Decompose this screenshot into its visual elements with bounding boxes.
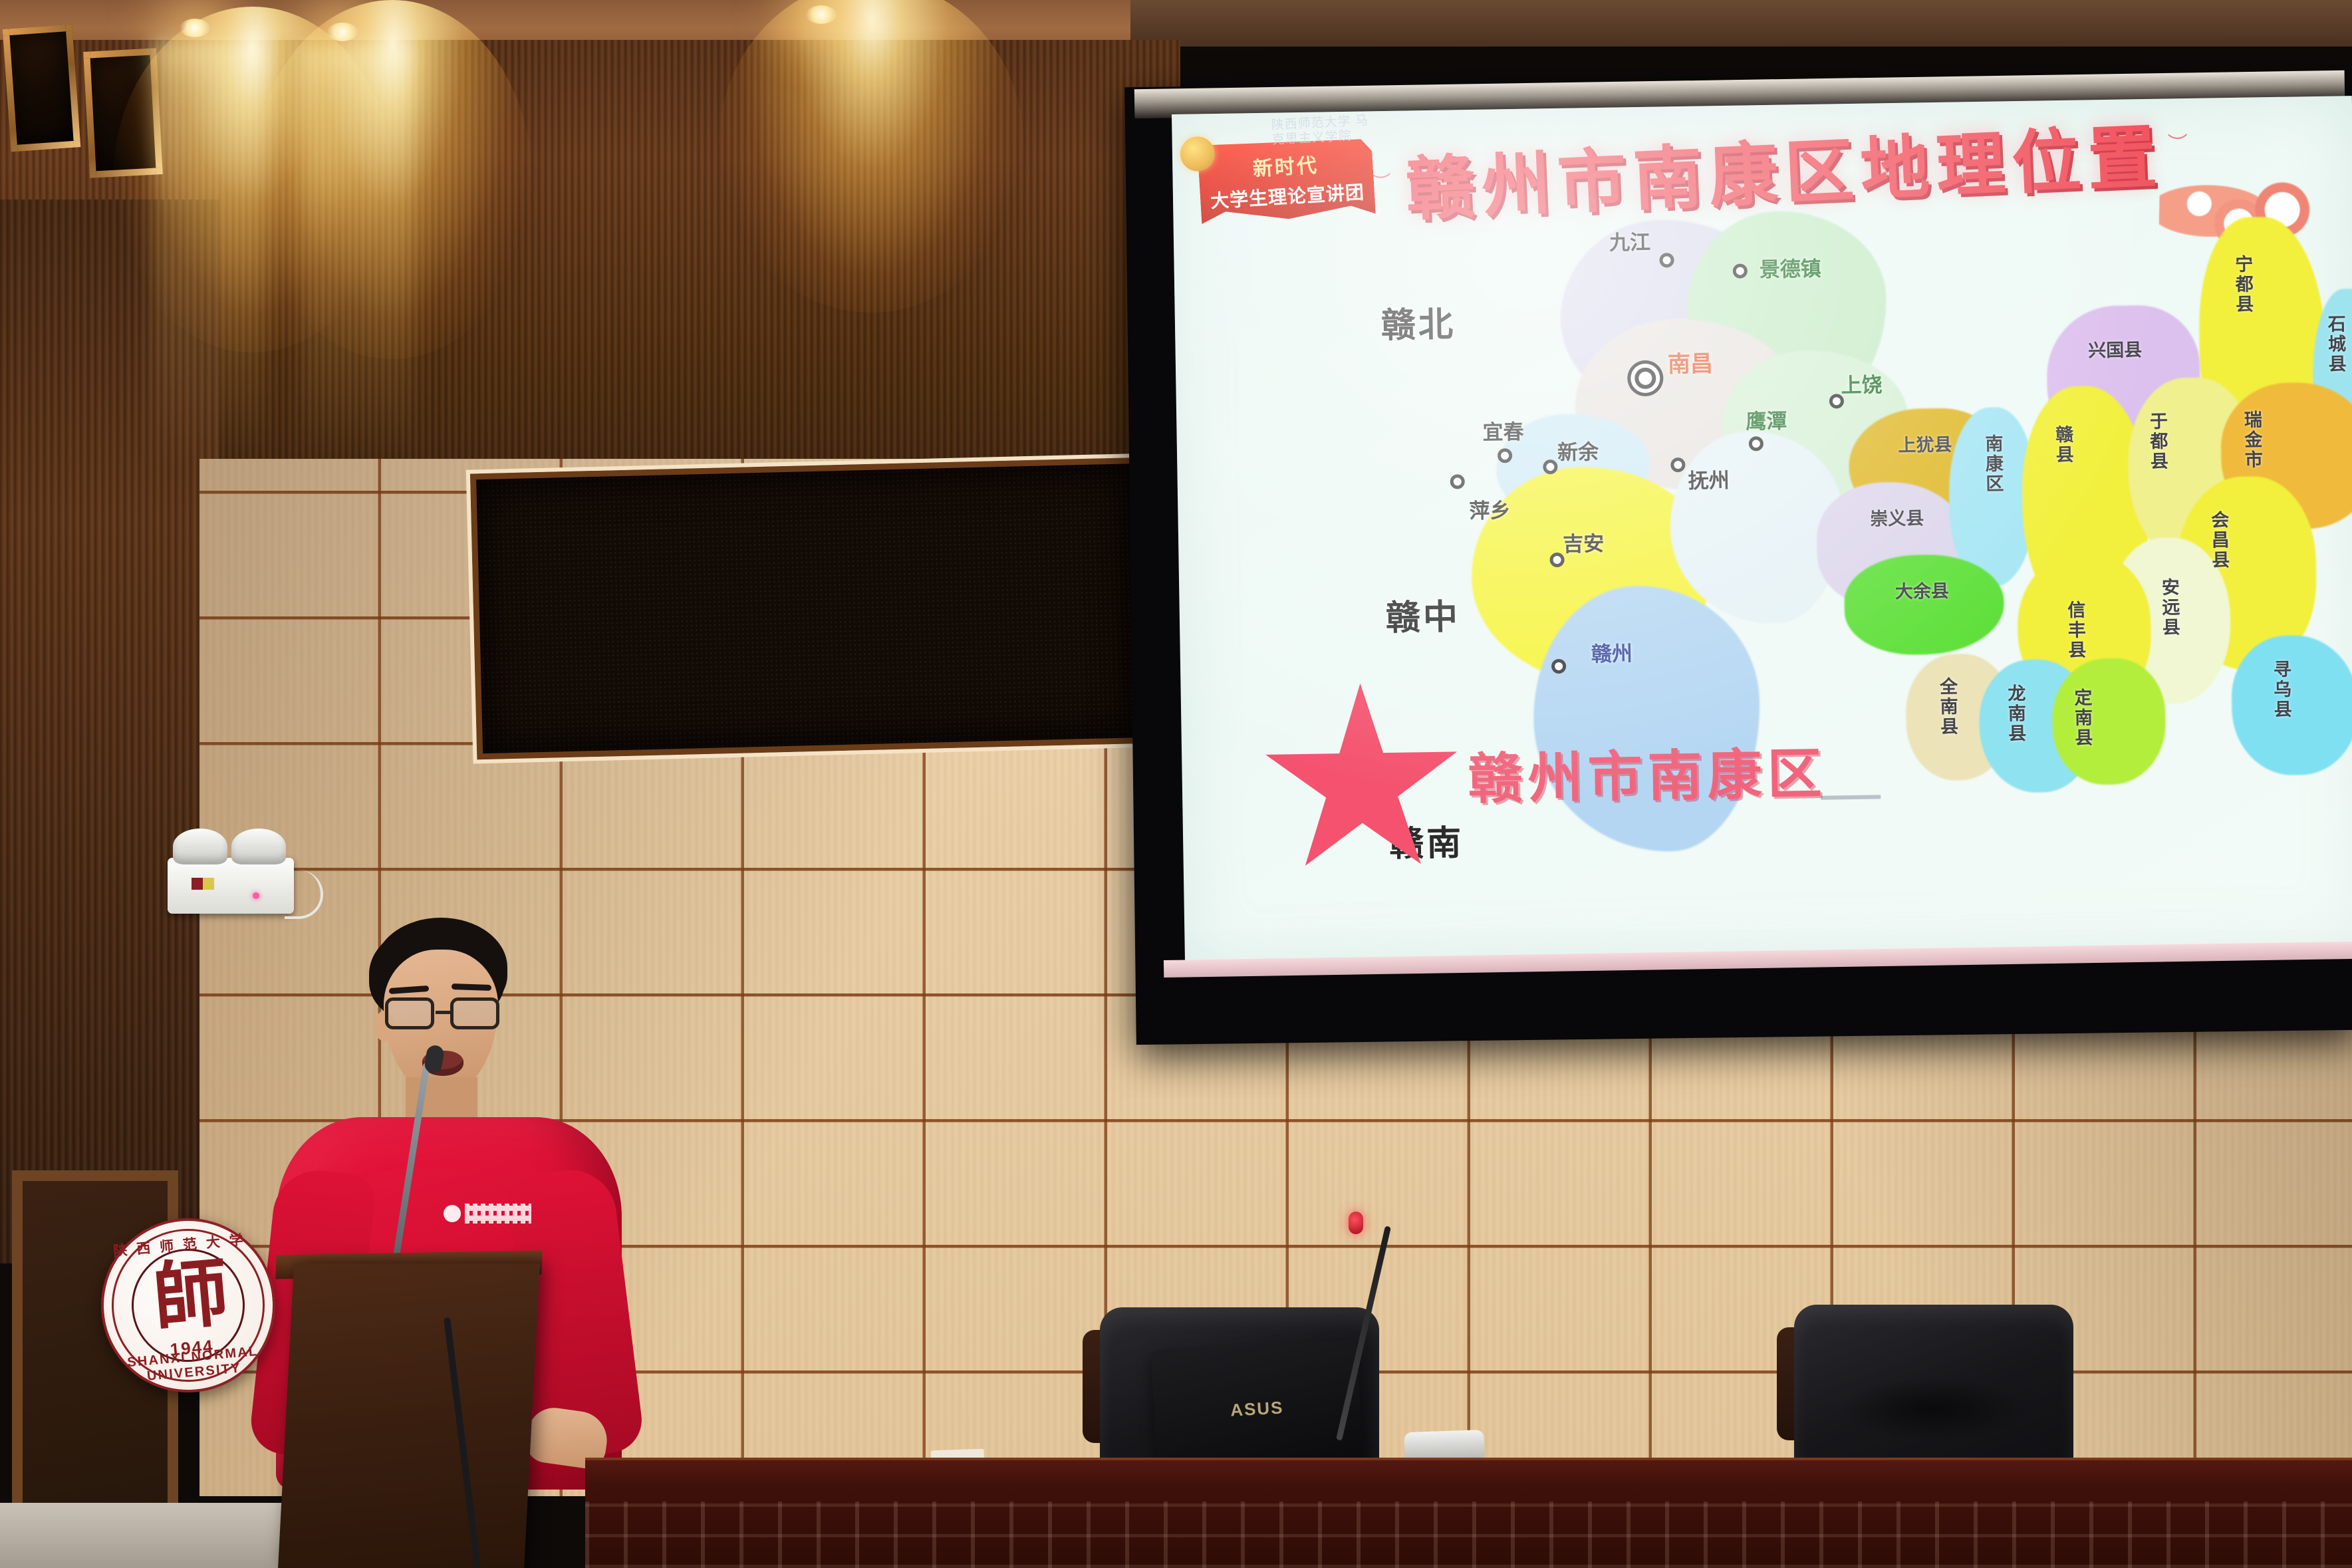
glasses-bridge [436,1011,452,1014]
ceiling-lamp-3 [806,5,837,24]
county-label-9: 瑞金市 [2242,410,2265,470]
city-marker-3 [1733,263,1748,278]
star-location-label: 赣州市南康区 [1468,729,1828,814]
emblem-seal-character: 師 [141,1253,241,1341]
emergency-light-fixture [168,858,294,914]
laptop[interactable]: ASUS [1151,1339,1363,1470]
sweater-logo-circle [444,1205,461,1222]
floor-strip [0,1503,306,1568]
county-label-10: 会昌县 [2209,510,2232,571]
city-label-8: 抚州 [1688,463,1730,494]
city-marker-10 [1549,553,1564,567]
wall-speaker-grille [470,457,1155,760]
wall-recess-panel-2 [83,48,163,178]
city-label-10: 吉安 [1563,527,1605,557]
table-carved-pattern [585,1502,2352,1568]
city-marker-2 [1634,368,1656,389]
county-label-3: 石城县 [2325,314,2349,374]
city-label-2: 南昌 [1668,345,1714,378]
county-label-2: 宁都县 [2233,254,2256,315]
county-label-4: 上犹县 [1875,434,1975,456]
glasses-icon [381,997,505,1032]
emergency-light-sticker [192,878,214,890]
ceiling-lamp-2 [327,23,358,41]
city-marker-8 [1670,457,1685,472]
county-label-12: 安远县 [2159,577,2182,638]
city-label-7: 新余 [1557,435,1599,465]
city-marker-11 [1551,659,1566,674]
county-label-13: 信丰县 [2065,600,2089,660]
county-label-7: 赣县 [2053,425,2077,465]
lecture-hall-scene: ︶ ︶ ︶ 新时代 大学生理论宣讲团 陕西师范大学 马克思主义学院 赣州市南康区… [0,0,2352,1568]
county-label-16: 定南县 [2072,688,2095,748]
county-label-8: 于都县 [2147,411,2170,471]
region-label-2: 赣中 [1385,588,1460,640]
county-label-5: 崇义县 [1847,508,1946,529]
university-emblem: 陕西师范大学 師 1944 SHANXI NORMAL UNIVERSITY [94,1211,283,1400]
city-label-5: 上饶 [1841,368,1883,398]
city-label-11: 赣州 [1591,636,1633,667]
county-label-14: 全南县 [1937,676,1960,737]
glasses-lens-right [450,997,499,1029]
city-marker-1 [1659,253,1674,267]
emergency-light-dome-left [173,829,227,864]
city-label-6: 宜春 [1482,415,1524,446]
county-label-11: 大余县 [1872,581,1972,602]
lectern [278,1263,540,1568]
city-label-9: 萍乡 [1469,493,1511,524]
desk-microphone-base [1404,1430,1484,1462]
desk-microphone-head[interactable] [1349,1212,1363,1234]
ceiling-lamp-1 [180,19,210,37]
sweater-logo-text [465,1204,531,1224]
projection-screen[interactable]: ︶ ︶ ︶ 新时代 大学生理论宣讲团 陕西师范大学 马克思主义学院 赣州市南康区… [1172,96,2352,966]
county-label-17: 寻乌县 [2271,660,2294,720]
dark-wood-wall-left [0,199,219,1263]
city-label-4: 鹰潭 [1746,404,1787,435]
city-marker-9 [1450,474,1465,489]
glasses-lens-left [385,997,434,1029]
laptop-brand-label: ASUS [1230,1398,1284,1421]
city-marker-7 [1543,459,1557,474]
county-label-15: 龙南县 [2006,684,2029,744]
emergency-light-dome-right [231,829,286,864]
city-marker-4 [1749,436,1764,451]
region-label-1: 赣北 [1380,296,1456,347]
sweater-university-logo [444,1204,531,1224]
county-label-6: 南康区 [1983,434,2006,494]
wall-recess-panel-1 [3,25,81,152]
ceiling-right-dark [1130,0,2352,47]
city-marker-6 [1498,448,1512,463]
city-label-1: 九江 [1609,225,1651,256]
city-label-3: 景德镇 [1759,252,1821,283]
county-label-1: 兴国县 [2065,340,2165,361]
emergency-light-led [253,892,259,899]
